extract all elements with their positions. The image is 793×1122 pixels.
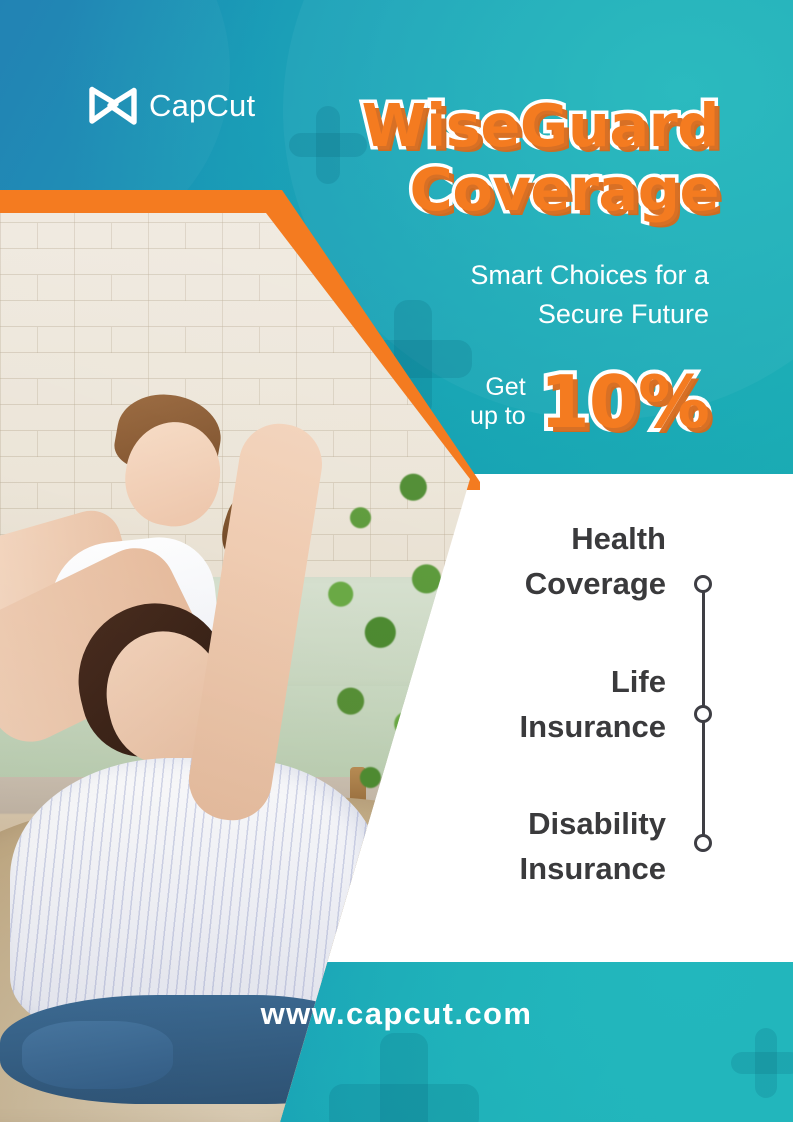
services-timeline [692, 575, 714, 852]
capcut-logo[interactable]: CapCut [86, 83, 255, 129]
service-label-line-1: Health [380, 516, 666, 561]
discount-callout: Get up to 10% [470, 366, 709, 438]
insurance-poster: CapCut WiseGuard Coverage Smart Choices … [0, 0, 793, 1122]
discount-prefix-line-1: Get [485, 373, 525, 401]
discount-amount: 10% [540, 366, 709, 438]
service-label-line-2: Coverage [380, 561, 666, 606]
headline-line-1: WiseGuard [299, 96, 719, 156]
discount-prefix: Get up to [470, 373, 526, 432]
services-list: Health Coverage Life Insurance Disabilit… [380, 516, 710, 892]
headline-line-2: Coverage [299, 160, 719, 220]
subtitle-line-1: Smart Choices for a [470, 260, 709, 290]
timeline-dot [694, 834, 712, 852]
capcut-logo-text: CapCut [149, 88, 255, 124]
timeline-dot [694, 705, 712, 723]
service-item-health: Health Coverage [380, 516, 710, 607]
service-label-line-1: Disability [380, 801, 666, 846]
service-label-line-2: Insurance [380, 846, 666, 891]
service-item-life: Life Insurance [380, 659, 710, 750]
capcut-logo-icon [86, 83, 140, 129]
subtitle: Smart Choices for a Secure Future [309, 256, 709, 334]
subtitle-line-2: Secure Future [538, 299, 709, 329]
website-url[interactable]: www.capcut.com [0, 996, 793, 1032]
service-label-line-2: Insurance [380, 704, 666, 749]
service-label-line-1: Life [380, 659, 666, 704]
page-title: WiseGuard Coverage [299, 96, 719, 220]
service-item-disability: Disability Insurance [380, 801, 710, 892]
timeline-dot [694, 575, 712, 593]
discount-prefix-line-2: up to [470, 402, 526, 430]
